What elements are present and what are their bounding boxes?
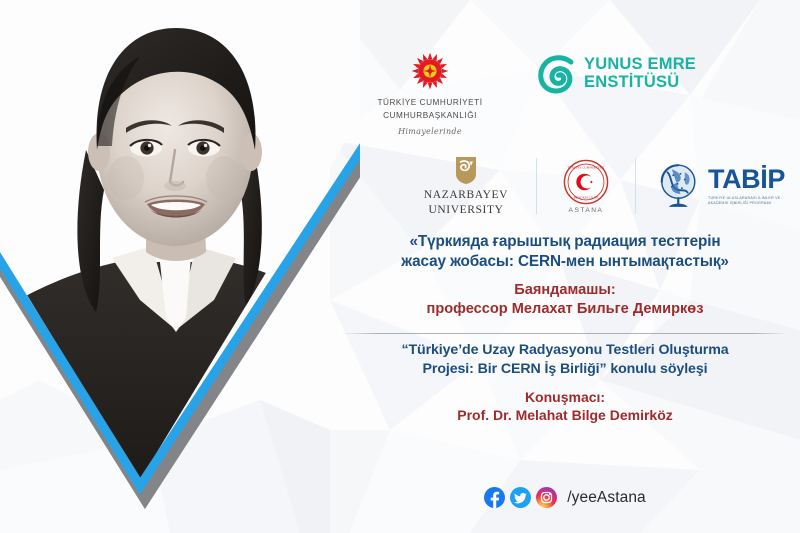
logo-divider-1 — [536, 158, 537, 214]
social-media-footer: /yeeAstana — [330, 487, 800, 508]
kazakh-title-line-1: «Түркияда ғарыштық радиация тесттерін — [330, 232, 800, 252]
yee-line-2: ENSTİTÜSÜ — [584, 73, 679, 91]
svg-text:TÜRKİYE CUMHURİYETİ: TÜRKİYE CUMHURİYETİ — [568, 164, 605, 169]
turkish-announcement: “Türkiye’de Uzay Radyasyonu Testleri Olu… — [330, 341, 800, 424]
tabip-word: TABİP — [708, 166, 785, 193]
logo-divider-2 — [635, 158, 636, 214]
nazarbayev-line-2: UNIVERSITY — [428, 204, 503, 216]
kazakh-announcement: «Түркияда ғарыштық радиация тесттерін жа… — [330, 232, 800, 319]
nazarbayev-line-1: NAZARBAYEV — [424, 189, 508, 201]
presidency-line-2: CUMHURBAŞKANLIĞI — [383, 110, 477, 122]
logo-yunus-emre-enstitusu: YUNUS EMRE ENSTİTÜSÜ — [530, 48, 800, 94]
turkish-embassy-seal-icon: TÜRKİYE CUMHURİYETİ BÜYÜKELÇİLİĞİ — [563, 159, 609, 205]
astana-caption: ASTANA — [569, 207, 604, 214]
logo-nazarbayev-university: NAZARBAYEV UNIVERSITY — [410, 155, 522, 217]
yunus-emre-swirl-icon — [536, 54, 576, 94]
logo-turkish-embassy-astana: TÜRKİYE CUMHURİYETİ BÜYÜKELÇİLİĞİ ASTANA — [551, 159, 621, 214]
tabip-wordmark: TABİP TÜRKİYE ULUSLARARASI İLİMLER VE AK… — [708, 166, 785, 207]
kazakh-speaker-name: профессор Мелахат Бильге Демиркөз — [330, 300, 800, 319]
instagram-icon[interactable] — [536, 487, 557, 508]
kazakh-speaker-label: Баяндамашы: — [330, 281, 800, 300]
turkish-title-line-2: Projesi: Bir CERN İş Birliği” konulu söy… — [330, 360, 800, 379]
logo-turkish-presidency: TÜRKİYE CUMHURİYETİ CUMHURBAŞKANLIĞI Him… — [330, 48, 530, 136]
nazarbayev-wordmark: NAZARBAYEV UNIVERSITY — [424, 188, 508, 217]
yunus-emre-wordmark: YUNUS EMRE ENSTİTÜSÜ — [584, 56, 696, 92]
tabip-globe-icon — [656, 162, 702, 210]
facebook-icon[interactable] — [484, 487, 505, 508]
svg-text:BÜYÜKELÇİLİĞİ: BÜYÜKELÇİLİĞİ — [574, 194, 599, 199]
logo-row-secondary: NAZARBAYEV UNIVERSITY TÜRKİYE CUMHURİYET… — [410, 150, 800, 222]
speaker-portrait — [0, 0, 360, 533]
tabip-subtitle-2: AKADEMİK İŞBİRLİĞİ PROGRAMI — [708, 201, 785, 206]
yee-line-1: YUNUS EMRE — [584, 55, 696, 73]
turkish-speaker-name: Prof. Dr. Melahat Bilge Demirköz — [330, 406, 800, 424]
presidency-script-text: Himayelerinde — [398, 127, 462, 136]
kazakh-title-line-2: жасау жобасы: CERN-мен ынтымақтастық» — [330, 252, 800, 272]
poster-content: TÜRKİYE CUMHURİYETİ CUMHURBAŞKANLIĞI Him… — [330, 0, 800, 533]
event-announcement-poster: TÜRKİYE CUMHURİYETİ CUMHURBAŞKANLIĞI Him… — [0, 0, 800, 533]
turkish-title-line-1: “Türkiye’de Uzay Radyasyonu Testleri Olu… — [330, 341, 800, 360]
social-handle[interactable]: /yeeAstana — [567, 489, 646, 507]
nazarbayev-university-emblem-icon — [453, 155, 479, 185]
turkish-speaker-label: Konuşmacı: — [330, 388, 800, 406]
logo-tabip: TABİP TÜRKİYE ULUSLARARASI İLİMLER VE AK… — [650, 162, 800, 210]
twitter-icon[interactable] — [510, 487, 531, 508]
section-divider — [342, 333, 788, 334]
logo-row-primary: TÜRKİYE CUMHURİYETİ CUMHURBAŞKANLIĞI Him… — [330, 48, 800, 143]
presidency-line-1: TÜRKİYE CUMHURİYETİ — [377, 97, 482, 109]
turkish-presidency-sun-emblem-icon — [409, 50, 451, 92]
